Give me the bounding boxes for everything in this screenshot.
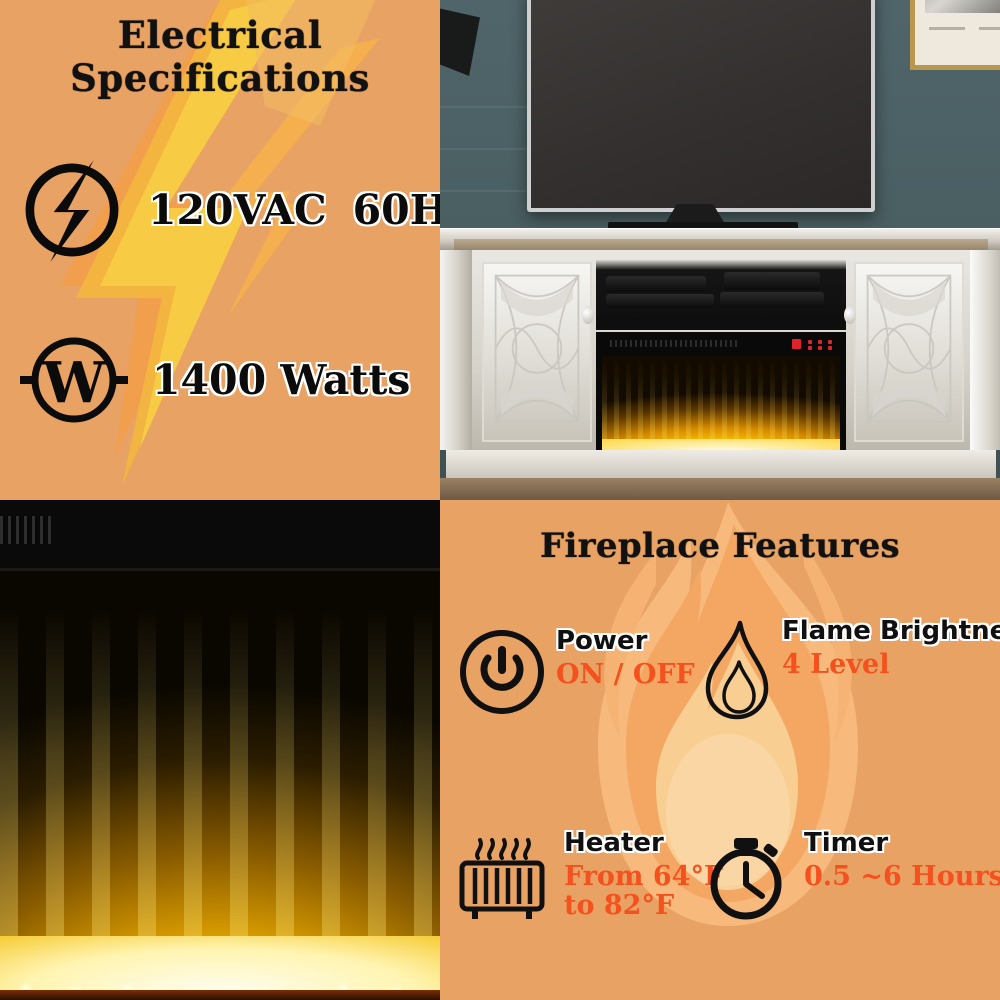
feature-heater-value: From 64°F to 82°F xyxy=(564,862,723,921)
fireplace-led-display xyxy=(792,339,836,349)
feature-flame-brightness: Flame Brightness 4 Level xyxy=(702,618,1000,722)
electric-fireplace-insert xyxy=(596,332,846,456)
console-left-edge xyxy=(440,250,472,450)
feature-heater: Heater From 64°F to 82°F xyxy=(454,830,723,926)
panel-fireplace-features: Fireplace Features Power ON / OFF Flame … xyxy=(440,500,1000,1000)
feature-heater-value-line1: From 64°F xyxy=(564,862,723,892)
spec-value-wattage: 1400 Watts xyxy=(152,356,410,404)
fireplace-hood xyxy=(0,500,440,572)
crystal-pattern-icon xyxy=(492,272,582,425)
watt-letter: W xyxy=(42,350,107,416)
panel-room-photo xyxy=(440,0,1000,500)
power-icon xyxy=(458,628,546,716)
cabinet-door-left[interactable] xyxy=(482,262,592,442)
mirrored-tv-console xyxy=(440,228,1000,493)
cabinet-knob-right[interactable] xyxy=(844,306,856,324)
infographic-board: Electrical Specifications 120VAC60Hz W 1… xyxy=(0,0,1000,1000)
feature-power-label: Power xyxy=(556,628,695,656)
fireplace-vent xyxy=(610,340,740,347)
fireplace-flame-display xyxy=(602,356,840,452)
feature-flame-brightness-text: Flame Brightness 4 Level xyxy=(782,618,1000,679)
lightning-bolt-circle-icon xyxy=(18,156,126,264)
flame-streaks xyxy=(602,356,840,452)
page-title: Electrical Specifications xyxy=(0,14,440,100)
console-right-edge xyxy=(970,250,1000,450)
wall-mounted-tv xyxy=(527,0,875,212)
art-photo xyxy=(925,0,1000,13)
flame-gradient xyxy=(0,572,440,992)
tv-screen xyxy=(531,0,871,208)
spec-value-voltage: 120VAC60Hz xyxy=(148,186,440,234)
feature-heater-value-line2: to 82°F xyxy=(564,891,723,921)
feature-timer-text: Timer 0.5 ~6 Hours xyxy=(804,830,1000,891)
console-plinth xyxy=(446,450,996,478)
stopwatch-timer-icon xyxy=(702,830,794,922)
console-top-surface xyxy=(440,228,1000,251)
glass-edge-line xyxy=(0,568,440,571)
panel-flame-closeup xyxy=(0,500,440,1000)
features-title: Fireplace Features xyxy=(440,526,1000,566)
feature-power-text: Power ON / OFF xyxy=(556,628,695,689)
floor xyxy=(440,478,1000,500)
feature-flame-brightness-label: Flame Brightness xyxy=(782,618,1000,646)
feature-heater-text: Heater From 64°F to 82°F xyxy=(564,830,723,921)
watt-meter-icon: W xyxy=(18,330,130,430)
ember-crystal-bed xyxy=(0,946,440,992)
firebox-base xyxy=(0,990,440,1000)
spec-row-voltage: 120VAC60Hz xyxy=(18,156,440,264)
feature-timer-value: 0.5 ~6 Hours xyxy=(804,862,1000,892)
art-caption-line xyxy=(929,27,965,30)
spec-row-wattage: W 1400 Watts xyxy=(18,330,410,430)
cabinet-knob-left[interactable] xyxy=(582,306,594,324)
framed-wall-art xyxy=(910,0,1000,70)
title-line-1: Electrical xyxy=(0,14,440,57)
cabinet-door-right[interactable] xyxy=(854,262,964,442)
flame-icon xyxy=(702,618,772,722)
flame-streaks-closeup xyxy=(0,572,440,992)
fireplace-vent-closeup xyxy=(0,516,52,544)
media-shelf xyxy=(596,260,846,330)
heater-icon xyxy=(454,830,554,926)
feature-power: Power ON / OFF xyxy=(458,628,695,716)
media-component xyxy=(606,276,706,292)
panel-electrical-specifications: Electrical Specifications 120VAC60Hz W 1… xyxy=(0,0,440,500)
feature-timer-label: Timer xyxy=(804,830,1000,858)
crystal-pattern-icon xyxy=(864,272,954,425)
feature-heater-label: Heater xyxy=(564,830,723,858)
art-caption-line xyxy=(979,27,1000,30)
media-component xyxy=(724,272,820,290)
media-component xyxy=(606,294,714,308)
feature-flame-brightness-value: 4 Level xyxy=(782,650,1000,680)
feature-power-value: ON / OFF xyxy=(556,660,695,690)
title-line-2: Specifications xyxy=(0,57,440,100)
feature-timer: Timer 0.5 ~6 Hours xyxy=(702,830,1000,922)
media-component xyxy=(720,292,824,308)
